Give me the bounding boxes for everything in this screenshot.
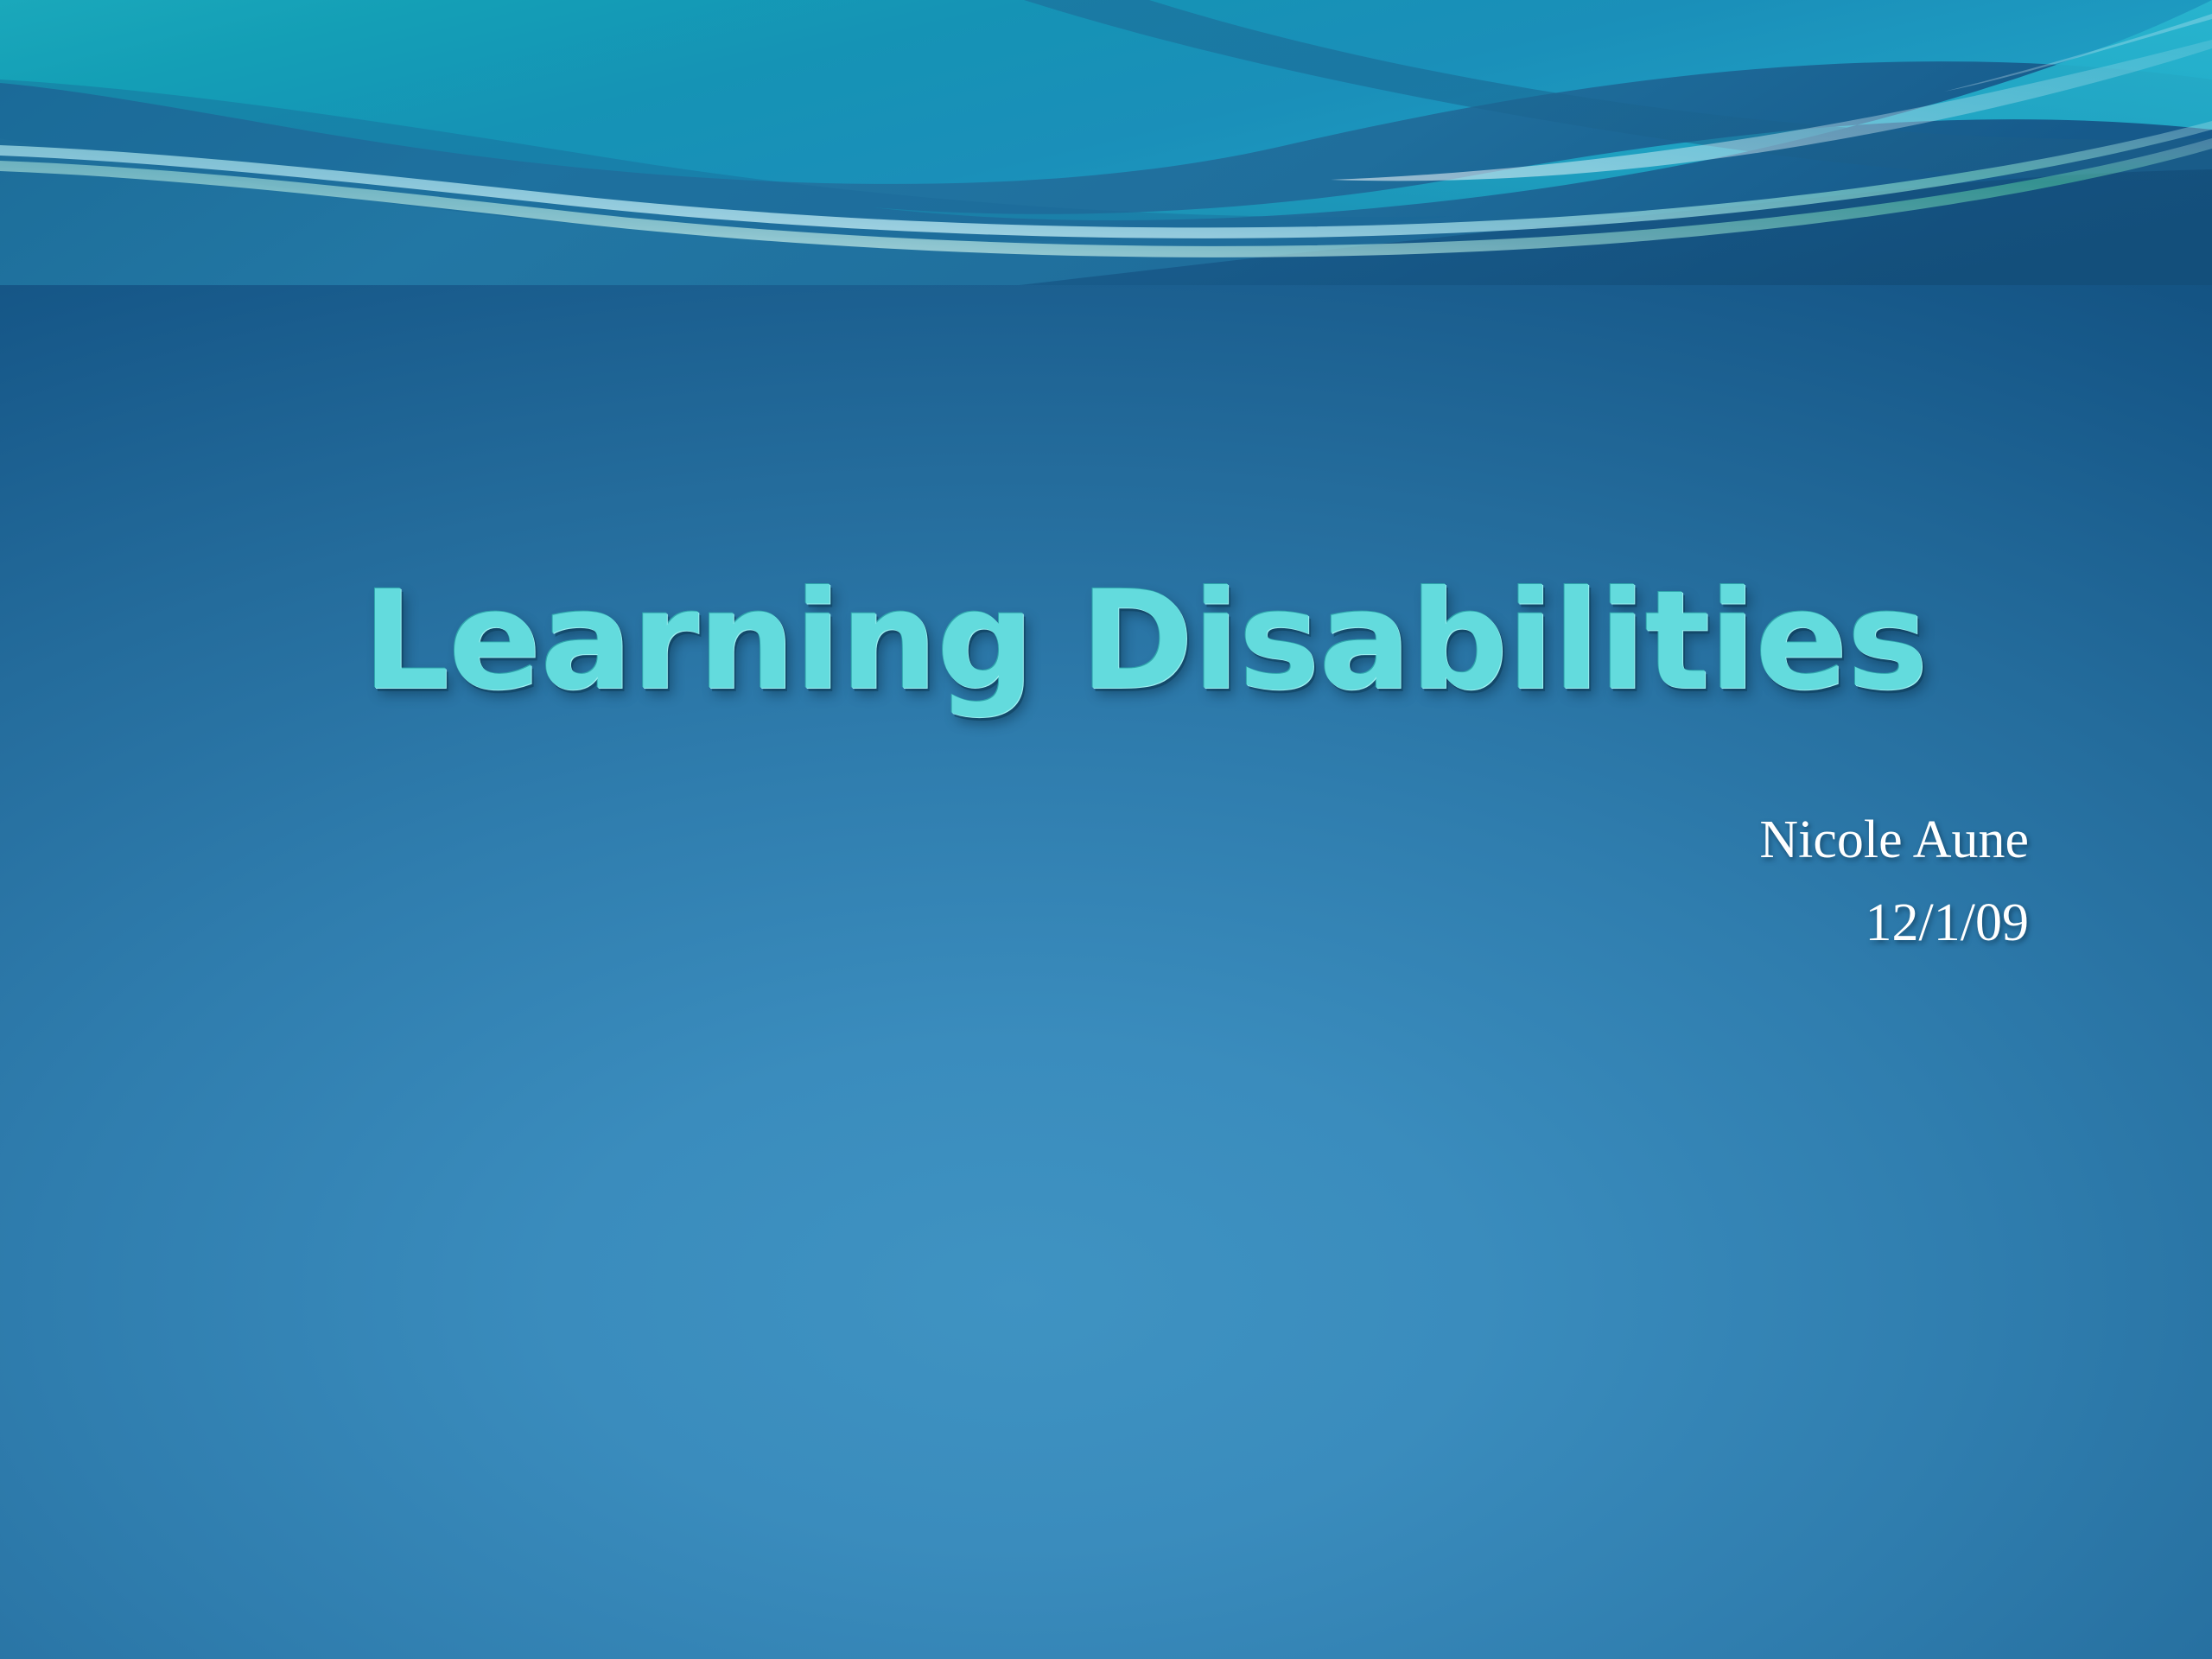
subtitle-date: 12/1/09 xyxy=(1020,891,2029,957)
title-placeholder: Learning Disabilities xyxy=(259,570,2031,714)
top-wave-decoration xyxy=(0,0,2212,285)
presentation-slide: Learning Disabilities Nicole Aune 12/1/0… xyxy=(0,0,2212,1659)
subtitle-author: Nicole Aune xyxy=(1020,808,2029,874)
subtitle-placeholder: Nicole Aune 12/1/09 xyxy=(1020,808,2029,956)
slide-title: Learning Disabilities xyxy=(259,570,2031,714)
